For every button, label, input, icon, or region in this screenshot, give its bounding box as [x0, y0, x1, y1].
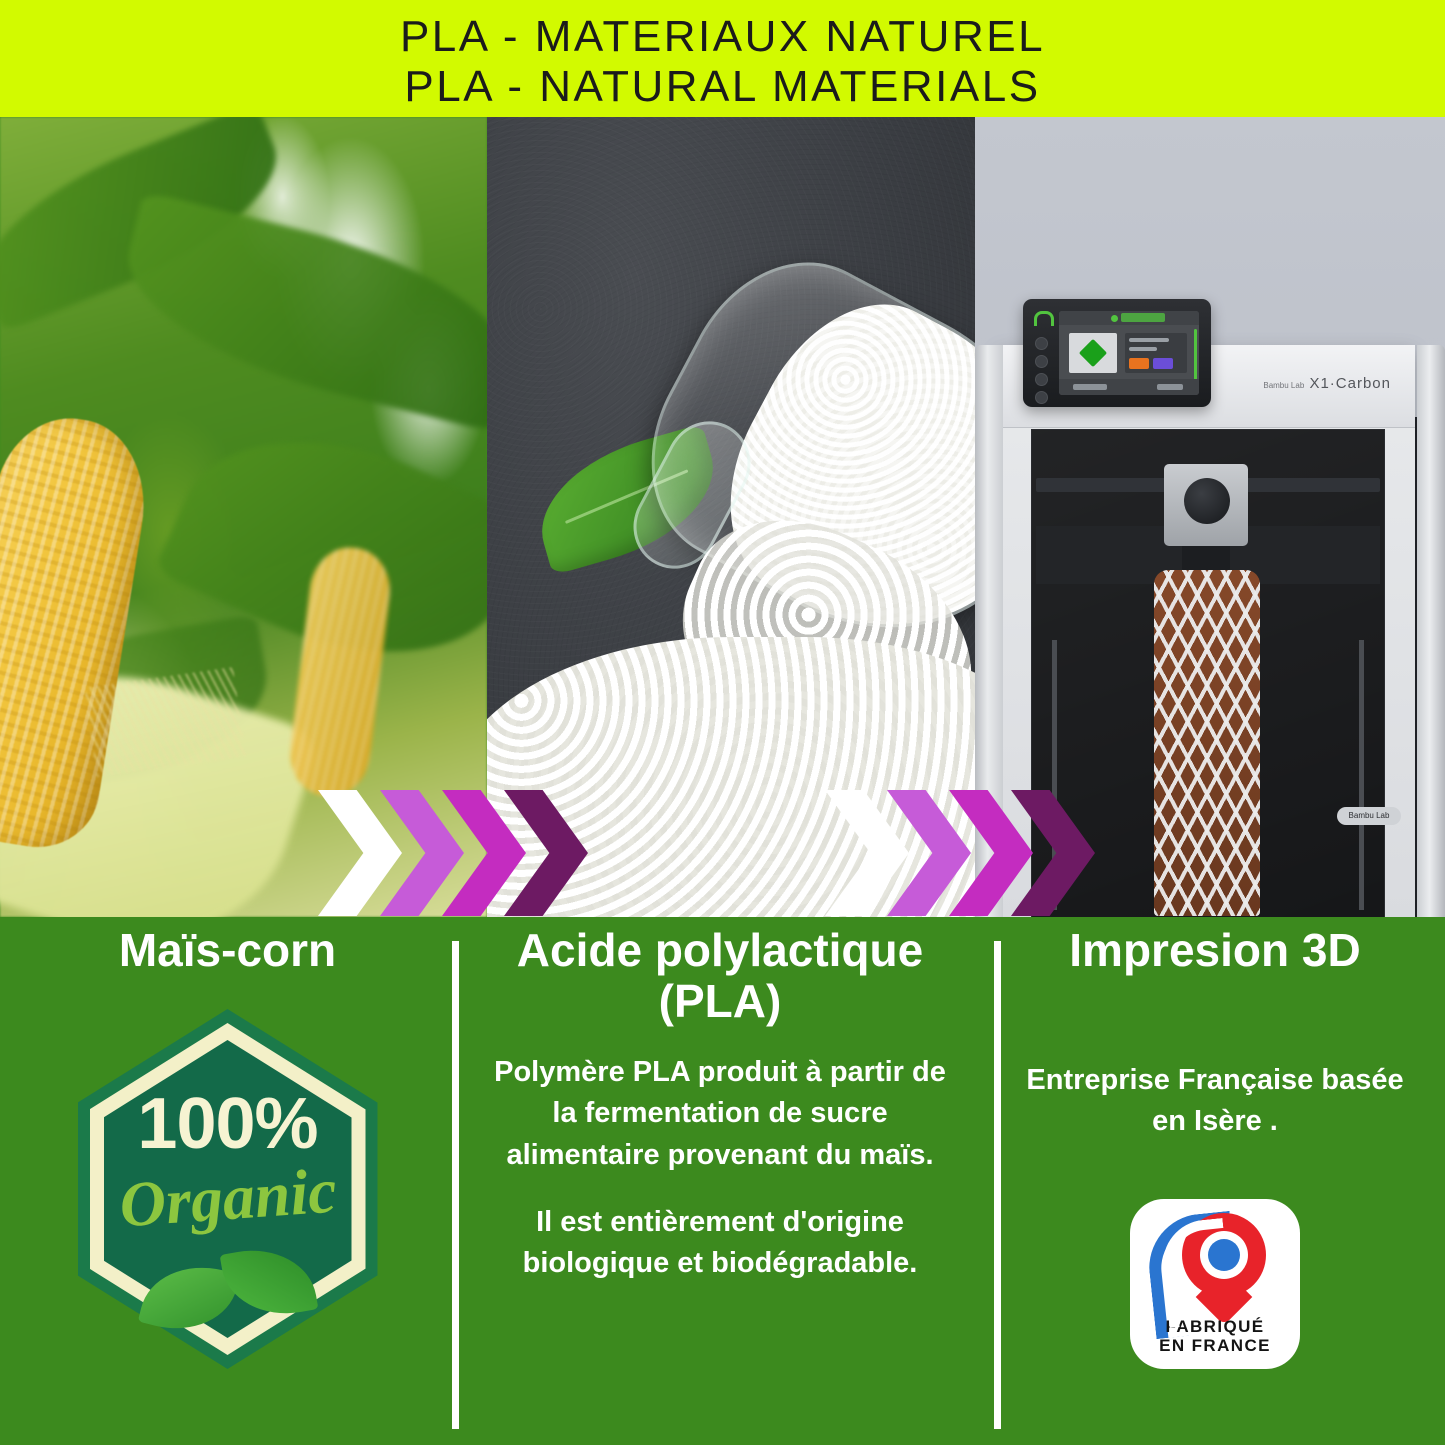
- printer-nozzle: [1182, 546, 1230, 572]
- printer-side-badge: Bambu Lab: [1337, 807, 1401, 825]
- chevron-right-icon: [825, 790, 909, 916]
- screen-bottom-bar: [1059, 379, 1199, 395]
- body-paragraph: Polymère PLA produit à partir de la ferm…: [489, 1052, 951, 1176]
- column-title-mais-corn: Maïs-corn: [0, 917, 455, 976]
- column-title-line-1: Acide polylactique: [455, 925, 985, 976]
- column-divider-left: [452, 941, 459, 1429]
- column-title-line-2: (PLA): [455, 976, 985, 1027]
- printer-screen[interactable]: [1059, 311, 1199, 395]
- printer-hardware-button[interactable]: [1035, 337, 1048, 350]
- column-title-impresion-3d: Impresion 3D: [985, 917, 1445, 976]
- screen-bottom-button[interactable]: [1073, 384, 1107, 390]
- printed-mesh-vase: [1154, 570, 1260, 916]
- arrow-group-corn-to-pla: [318, 789, 566, 917]
- printer-hardware-button[interactable]: [1035, 373, 1048, 386]
- printer-brand-maker: Bambu Lab: [1263, 381, 1304, 390]
- printer-fan-icon: [1184, 478, 1230, 524]
- printer-hardware-button[interactable]: [1035, 391, 1048, 404]
- printer-brand-label: Bambu Lab X1·Carbon: [1263, 375, 1391, 392]
- printer-brand-model: X1·Carbon: [1309, 375, 1391, 392]
- status-ok-icon: [1111, 315, 1118, 322]
- bottom-info-section: Maïs-corn 100% Organic Acide polylactiqu: [0, 917, 1445, 1445]
- column-acide-polylactique: Acide polylactique (PLA) Polymère PLA pr…: [455, 917, 985, 1445]
- screen-action-button-purple[interactable]: [1153, 358, 1173, 369]
- arrow-group-pla-to-printer: [825, 789, 1073, 917]
- badge-leaves-icon: [143, 1245, 313, 1345]
- screen-info-line: [1129, 347, 1157, 351]
- header-banner: PLA - MATERIAUX NATUREL PLA - NATURAL MA…: [0, 0, 1445, 117]
- header-title-fr: PLA - MATERIAUX NATUREL: [0, 12, 1445, 62]
- header-title-en: PLA - NATURAL MATERIALS: [0, 62, 1445, 112]
- printer-toolhead: [1164, 464, 1248, 546]
- infographic-page: PLA - MATERIAUX NATUREL PLA - NATURAL MA…: [0, 0, 1445, 1445]
- screen-progress-bar: [1194, 329, 1197, 381]
- printer-hardware-button[interactable]: [1035, 355, 1048, 368]
- printer-pillar-right: [1417, 345, 1445, 917]
- body-paragraph: Il est entièrement d'origine biologique …: [489, 1202, 951, 1284]
- organic-badge: 100% Organic: [78, 1009, 378, 1369]
- logo-text-line-2: EN FRANCE: [1130, 1336, 1300, 1355]
- screen-title-placeholder: [1121, 313, 1165, 322]
- printer-rail-right: [1359, 640, 1364, 910]
- fabrique-en-france-logo: FABRIQUÉ EN FRANCE: [1130, 1199, 1300, 1369]
- pin-blue-dot-icon: [1208, 1239, 1240, 1271]
- screen-info-panel: [1125, 333, 1187, 373]
- photo-strip: Bambu Lab X1·Carbon: [0, 117, 1445, 917]
- column-impresion-3d: Impresion 3D Entreprise Française basée …: [985, 917, 1445, 1445]
- model-thumbnail-icon: [1079, 339, 1107, 367]
- body-paragraph: Entreprise Française basée en Isère .: [1019, 1060, 1411, 1142]
- column-body-impresion-3d: Entreprise Française basée en Isère .: [985, 1060, 1445, 1142]
- column-title-acide-polylactique: Acide polylactique (PLA): [455, 917, 985, 1026]
- printer-touchscreen-housing[interactable]: [1023, 299, 1211, 407]
- screen-action-button-orange[interactable]: [1129, 358, 1149, 369]
- column-body-acide-polylactique: Polymère PLA produit à partir de la ferm…: [455, 1052, 985, 1284]
- leaf-icon: [219, 1240, 318, 1324]
- bambu-logo-icon: [1034, 311, 1054, 326]
- screen-bottom-button[interactable]: [1157, 384, 1183, 390]
- columns-container: Maïs-corn 100% Organic Acide polylactiqu: [0, 917, 1445, 1445]
- screen-status-bar: [1059, 311, 1199, 325]
- column-mais-corn: Maïs-corn 100% Organic: [0, 917, 455, 1445]
- screen-model-preview: [1069, 333, 1117, 373]
- chevron-right-icon: [318, 790, 402, 916]
- column-divider-right: [994, 941, 1001, 1429]
- screen-info-line: [1129, 338, 1169, 342]
